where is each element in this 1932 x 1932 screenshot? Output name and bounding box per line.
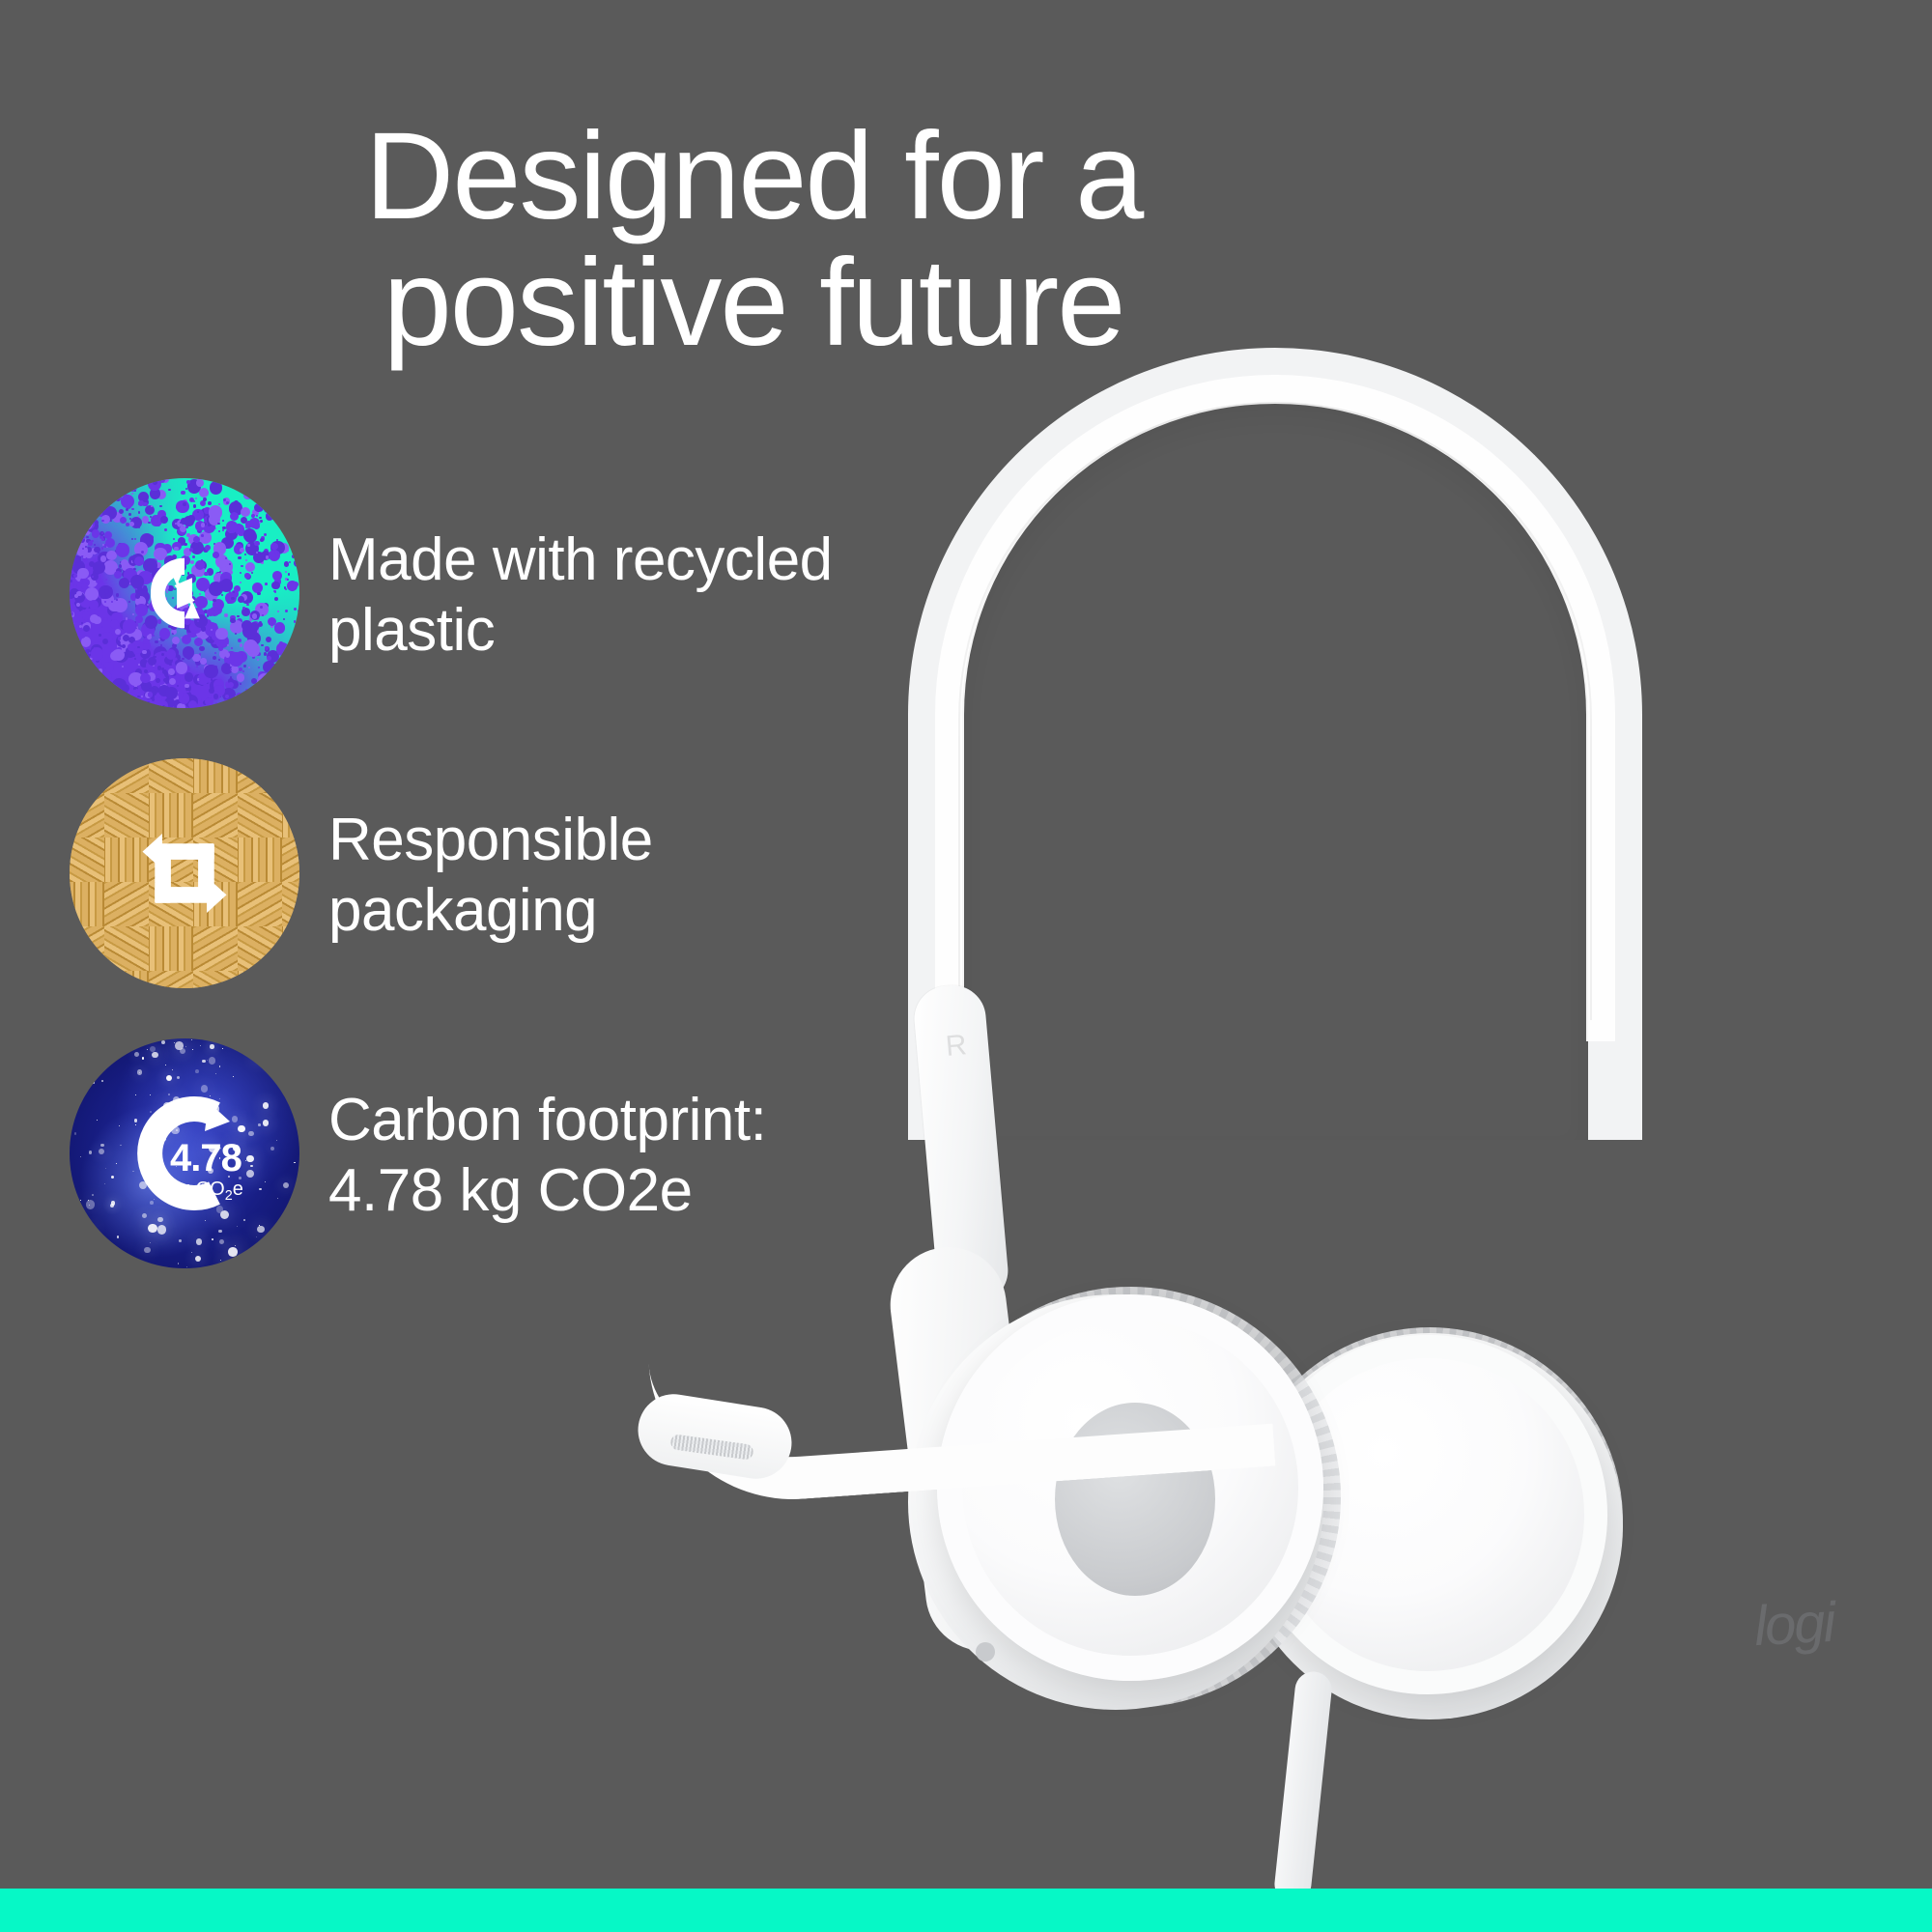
feature-carbon-footprint: 4.78 kg CO2e Carbon footprint: 4.78 kg C… [70, 1038, 1036, 1319]
earcup-port [976, 1642, 995, 1662]
recycle-loop-icon [70, 478, 299, 708]
headset-cable [1273, 1670, 1334, 1905]
headline-line-1: Designed for a [0, 114, 1507, 241]
feature-label-line-2: packaging [328, 875, 1005, 946]
headband-seam [958, 402, 1592, 1020]
carbon-unit: kg CO2e [170, 1179, 296, 1203]
feature-recycled-plastic: Made with recycled plastic [70, 478, 1036, 758]
marketing-slide: Designed for a positive future R logi [0, 0, 1932, 1932]
feature-label-line-1: Carbon footprint: [328, 1085, 1005, 1155]
carbon-value: 4.78 [170, 1139, 286, 1178]
badge-recycled-plastic [70, 478, 299, 708]
logitech-logo: logi [1752, 1590, 1835, 1659]
badge-carbon-footprint: 4.78 kg CO2e [70, 1038, 299, 1268]
bottom-accent-bar [0, 1889, 1932, 1932]
square-loop-arrows-icon [70, 758, 299, 988]
sustainability-feature-list: Made with recycled plastic [70, 478, 1036, 1319]
badge-responsible-packaging [70, 758, 299, 988]
feature-responsible-packaging: Responsible packaging [70, 758, 1036, 1038]
carbon-unit-subscript: 2 [225, 1188, 233, 1204]
feature-label-line-2: plastic [328, 595, 1005, 666]
feature-label-recycled-plastic: Made with recycled plastic [328, 525, 1005, 666]
feature-label-carbon-footprint: Carbon footprint: 4.78 kg CO2e [328, 1085, 1005, 1226]
feature-label-line-2: 4.78 kg CO2e [328, 1155, 1005, 1226]
feature-label-line-1: Made with recycled [328, 525, 1005, 595]
feature-label-line-1: Responsible [328, 805, 1005, 875]
carbon-unit-tail: e [233, 1179, 243, 1200]
feature-label-responsible-packaging: Responsible packaging [328, 805, 1005, 946]
carbon-unit-main: kg CO [170, 1179, 225, 1200]
